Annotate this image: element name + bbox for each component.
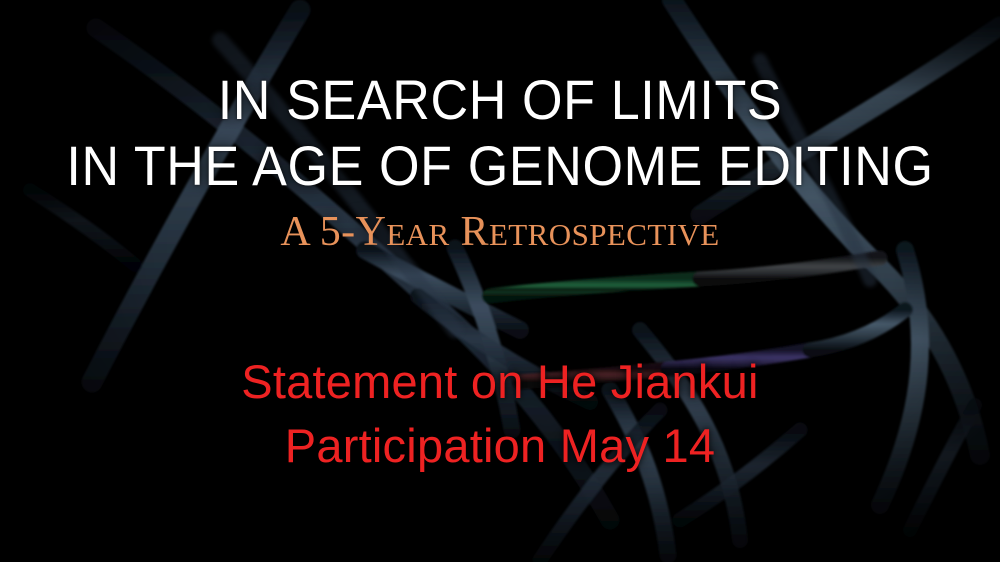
subtitle-part-c: R: [450, 209, 489, 255]
slide-title-line-2: IN THE AGE OF GENOME EDITING: [35, 138, 965, 194]
slide-text-layer: IN SEARCH OF LIMITS IN THE AGE OF GENOME…: [0, 0, 1000, 562]
slide-headline-line-2: Participation May 14: [0, 422, 1000, 469]
presentation-slide: IN SEARCH OF LIMITS IN THE AGE OF GENOME…: [0, 0, 1000, 562]
subtitle-part-a: A 5-Y: [280, 209, 386, 255]
slide-title-line-1: IN SEARCH OF LIMITS: [35, 72, 965, 128]
slide-headline-line-1: Statement on He Jiankui: [0, 358, 1000, 405]
subtitle-part-d: ETROSPECTIVE: [489, 217, 720, 252]
subtitle-part-b: EAR: [386, 217, 449, 252]
slide-subtitle: A 5-YEAR RETROSPECTIVE: [0, 211, 1000, 253]
